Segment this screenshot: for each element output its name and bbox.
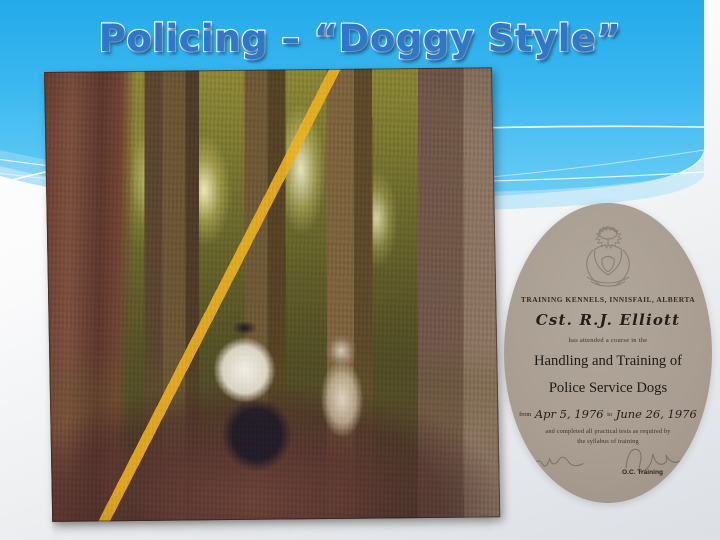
certificate-signature-left xyxy=(529,447,587,475)
certificate-course-line-1: Handling and Training of xyxy=(518,352,698,371)
slide-title: Policing – “Doggy Style” xyxy=(0,16,720,62)
training-certificate[interactable]: TRAINING KENNELS, INNISFAIL, ALBERTA Cst… xyxy=(504,203,712,503)
slide-title-text: Policing – “Doggy Style” xyxy=(99,17,622,60)
certificate-attended-line: has attended a course in the xyxy=(518,337,698,344)
photo-border xyxy=(44,67,500,522)
certificate-date-range: from Apr 5, 1976 to June 26, 1976 xyxy=(518,407,698,421)
certificate-date-from: Apr 5, 1976 xyxy=(535,407,604,421)
certificate-from-label: from xyxy=(519,411,531,418)
certificate-fine-line-1: and completed all practical tests as req… xyxy=(518,428,698,435)
certificate-course-line-2: Police Service Dogs xyxy=(518,379,698,398)
presentation-slide: Policing – “Doggy Style” T xyxy=(0,0,720,540)
certificate-date-to: June 26, 1976 xyxy=(616,407,697,421)
police-dog-photo[interactable] xyxy=(44,67,500,522)
certificate-to-label: to xyxy=(607,411,612,418)
rcmp-crest-icon xyxy=(569,219,647,295)
certificate-kennels-line: TRAINING KENNELS, INNISFAIL, ALBERTA xyxy=(518,295,698,304)
certificate-text-block: TRAINING KENNELS, INNISFAIL, ALBERTA Cst… xyxy=(504,295,712,445)
certificate-recipient-name: Cst. R.J. Elliott xyxy=(518,311,698,329)
certificate-signature-label: O.C. Training xyxy=(622,469,663,476)
